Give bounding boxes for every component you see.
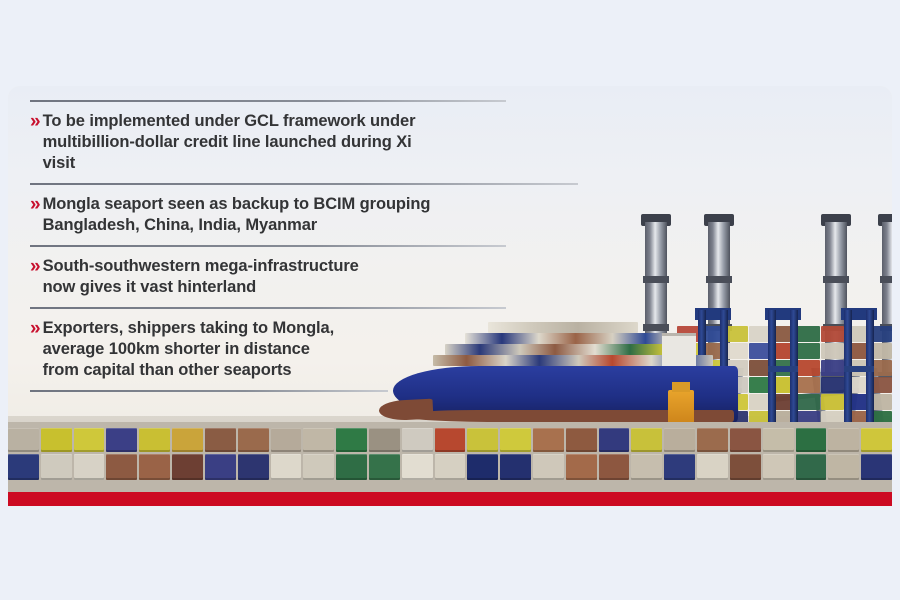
- crane-band: [706, 276, 732, 283]
- container-box: [664, 454, 695, 480]
- container-box: [631, 454, 662, 480]
- list-item: » South-southwestern mega-infrastructure…: [30, 256, 438, 298]
- crane-band: [823, 276, 849, 283]
- container-box: [467, 454, 498, 480]
- container-box: [402, 428, 433, 452]
- stacked-container: [797, 394, 820, 410]
- divider: [30, 307, 506, 309]
- container-box: [435, 428, 466, 452]
- container-box: [303, 454, 334, 480]
- container-box: [861, 428, 892, 452]
- wharf-crane: [768, 308, 798, 428]
- double-chevron-icon: »: [30, 111, 39, 132]
- container-box: [41, 428, 72, 452]
- container-box: [664, 428, 695, 452]
- container-box: [500, 454, 531, 480]
- container-box: [106, 428, 137, 452]
- crane-band: [880, 276, 892, 283]
- stacked-container: [821, 343, 844, 359]
- container-box: [369, 428, 400, 452]
- container-box: [566, 454, 597, 480]
- container-box: [271, 454, 302, 480]
- wharf-crane: [844, 308, 874, 428]
- container-box: [336, 428, 367, 452]
- container-box: [599, 454, 630, 480]
- container-row-bottom: [8, 454, 892, 480]
- container-box: [205, 454, 236, 480]
- infographic-card: » To be implemented under GCL framework …: [8, 86, 892, 506]
- stacked-container: [821, 326, 844, 342]
- double-chevron-icon: »: [30, 318, 39, 339]
- container-box: [303, 428, 334, 452]
- container-box: [271, 428, 302, 452]
- container-box: [74, 454, 105, 480]
- stacked-container: [797, 360, 820, 376]
- container-box: [828, 454, 859, 480]
- container-box: [139, 428, 170, 452]
- container-box: [74, 428, 105, 452]
- bullet-list-panel: » To be implemented under GCL framework …: [8, 86, 438, 426]
- container-box: [205, 428, 236, 452]
- container-box: [8, 454, 39, 480]
- list-item-text: Exporters, shippers taking to Mongla, av…: [43, 318, 335, 381]
- list-item-text: South-southwestern mega-infrastructure n…: [43, 256, 359, 298]
- double-chevron-icon: »: [30, 256, 39, 277]
- container-box: [172, 428, 203, 452]
- container-box: [238, 428, 269, 452]
- list-item: » Mongla seaport seen as backup to BCIM …: [30, 194, 438, 236]
- deck-container-row: [445, 344, 695, 355]
- container-box: [566, 428, 597, 452]
- container-box: [763, 454, 794, 480]
- stacked-container: [797, 377, 820, 393]
- stacked-container: [797, 326, 820, 342]
- container-box: [139, 454, 170, 480]
- container-box: [631, 428, 662, 452]
- accent-bar: [8, 492, 892, 506]
- container-box: [172, 454, 203, 480]
- divider: [30, 100, 506, 102]
- container-box: [402, 454, 433, 480]
- container-box: [106, 454, 137, 480]
- container-row-top: [8, 428, 892, 452]
- container-box: [336, 454, 367, 480]
- deck-container-row: [465, 333, 670, 344]
- list-item-text: Mongla seaport seen as backup to BCIM gr…: [43, 194, 431, 236]
- container-box: [730, 454, 761, 480]
- divider: [30, 390, 388, 392]
- wharf-crane-brace: [768, 366, 798, 372]
- container-box: [861, 454, 892, 480]
- deck-container-row: [488, 322, 638, 333]
- container-yard: [8, 422, 892, 492]
- stacked-container: [821, 360, 844, 376]
- container-box: [41, 454, 72, 480]
- container-box: [730, 428, 761, 452]
- container-box: [467, 428, 498, 452]
- container-box: [435, 454, 466, 480]
- container-box: [533, 454, 564, 480]
- divider: [30, 245, 506, 247]
- container-box: [697, 428, 728, 452]
- container-box: [763, 428, 794, 452]
- stacked-container: [821, 377, 844, 393]
- ship-superstructure: [662, 333, 696, 370]
- container-box: [599, 428, 630, 452]
- container-box: [500, 428, 531, 452]
- divider: [30, 183, 578, 185]
- container-box: [828, 428, 859, 452]
- crane-band: [643, 276, 669, 283]
- list-item-text: To be implemented under GCL framework un…: [43, 111, 438, 174]
- infographic-page: » To be implemented under GCL framework …: [0, 0, 900, 600]
- double-chevron-icon: »: [30, 194, 39, 215]
- list-item: » Exporters, shippers taking to Mongla, …: [30, 318, 438, 381]
- stacked-container: [797, 343, 820, 359]
- list-item: » To be implemented under GCL framework …: [30, 111, 438, 174]
- container-box: [796, 454, 827, 480]
- container-box: [369, 454, 400, 480]
- container-box: [238, 454, 269, 480]
- container-box: [8, 428, 39, 452]
- container-box: [533, 428, 564, 452]
- wharf-crane-brace: [844, 366, 874, 372]
- container-box: [697, 454, 728, 480]
- stacked-container: [821, 394, 844, 410]
- container-box: [796, 428, 827, 452]
